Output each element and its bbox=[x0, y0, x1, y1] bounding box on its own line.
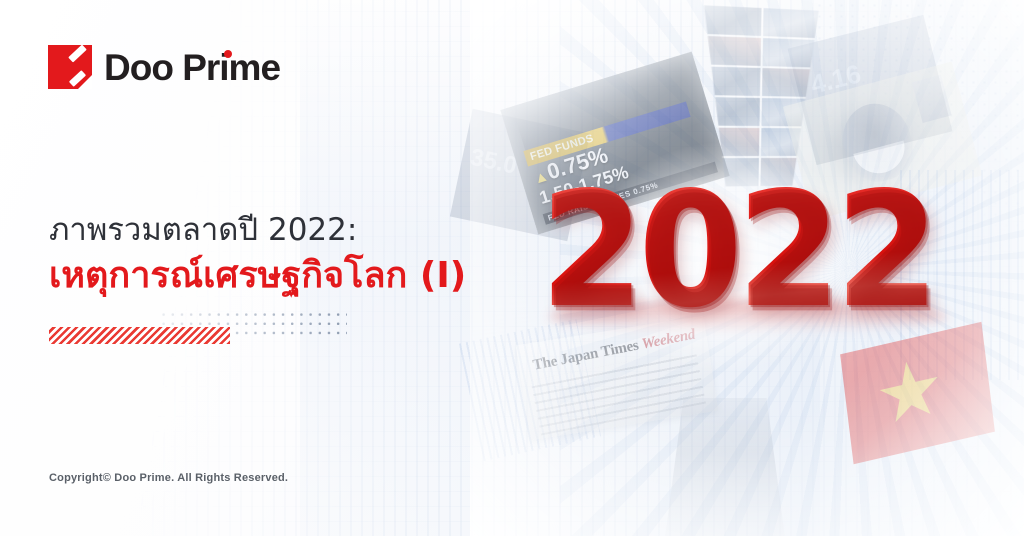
grid-photo bbox=[763, 8, 836, 39]
grid-photo bbox=[685, 4, 762, 36]
headline-line-1: ภาพรวมตลาดปี 2022: bbox=[49, 210, 466, 251]
red-diagonal-stripe-bar bbox=[49, 327, 230, 344]
logo-corner-cut bbox=[78, 75, 92, 89]
grid-photo bbox=[684, 35, 761, 66]
brand-name-text: Doo Prime bbox=[104, 47, 280, 88]
brand-logo[interactable]: Doo Prime bbox=[48, 45, 280, 89]
headline-line-2: เหตุการณ์เศรษฐกิจโลก (I) bbox=[49, 251, 466, 301]
city-street-shard bbox=[660, 398, 790, 536]
hero-year: 2022 bbox=[540, 172, 933, 331]
copyright-text: Copyright© Doo Prime. All Rights Reserve… bbox=[49, 472, 288, 484]
logo-red-dot-icon bbox=[224, 50, 232, 58]
yellow-star-icon bbox=[876, 355, 944, 431]
brand-name: Doo Prime bbox=[104, 49, 280, 86]
marketing-banner: 35.0 4.16 FED FUNDS ▲0.75% 1.50-1.75% FE… bbox=[0, 0, 1024, 536]
headline-block: ภาพรวมตลาดปี 2022: เหตุการณ์เศรษฐกิจโลก … bbox=[49, 210, 466, 301]
banknote-corner bbox=[912, 75, 952, 123]
doo-prime-logo-mark bbox=[48, 45, 92, 89]
